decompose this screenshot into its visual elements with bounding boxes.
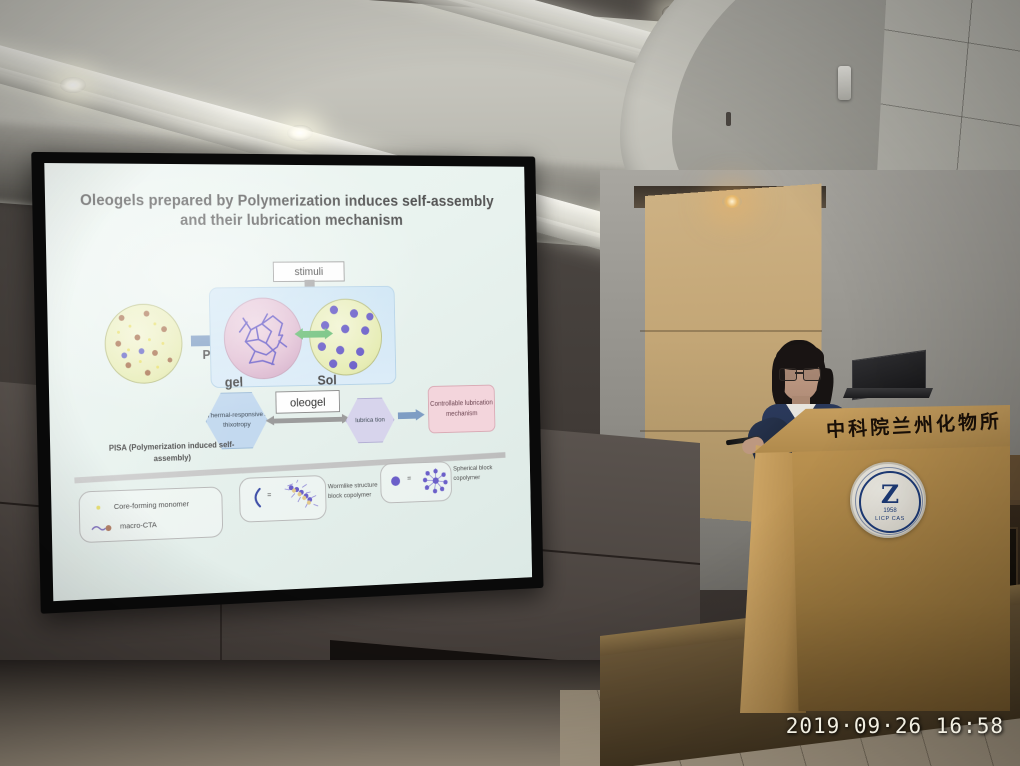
sol-label: Sol (317, 373, 336, 388)
slide-title: Oleogels prepared by Polymerization indu… (70, 191, 502, 232)
legend-box-monomer (79, 486, 224, 543)
outcome-arrow-icon (398, 409, 425, 422)
gel-label: gel (225, 375, 244, 390)
ceiling-spotlight-2 (287, 125, 313, 141)
legend-label-wormlike: Wormlike structure block copolymer (328, 481, 379, 502)
warm-spotlight (722, 195, 742, 208)
emblem-year: 1958 (883, 508, 896, 514)
oleogel-box: oleogel (275, 390, 340, 414)
glasses-icon (779, 368, 819, 379)
wormlike-micelle-icon (282, 479, 323, 513)
photograph: Oleogels prepared by Polymerization indu… (0, 0, 1020, 766)
emblem-mark: Z (881, 482, 899, 507)
presentation-slide: Oleogels prepared by Polymerization indu… (44, 163, 532, 601)
legend-equals-spherical: = (407, 474, 411, 483)
wormlike-bracket-icon (248, 487, 263, 509)
beige-panel-seam-1 (640, 330, 822, 332)
institution-emblem: Z 1958 LICP CAS (850, 462, 926, 538)
spherical-micelle-icon (421, 465, 450, 496)
macro-cta-icon (91, 522, 113, 533)
gel-circle (223, 297, 303, 380)
ceiling-hook-icon (726, 112, 731, 126)
legend-equals-wormlike: = (267, 490, 271, 499)
controllable-lubrication-box: Controllable lubrication mechanism (428, 385, 496, 434)
screen-surface: Oleogels prepared by Polymerization indu… (44, 163, 532, 601)
gel-sol-equilibrium-arrow-icon (294, 328, 333, 341)
legend-label-spherical: Spherical block copolymer (453, 463, 499, 483)
pisa-definition-note: PISA (Polymerization induced self-assemb… (95, 439, 248, 467)
emblem-abbreviation: LICP CAS (875, 516, 905, 522)
oleogel-double-arrow-icon (266, 414, 351, 427)
photo-timestamp: 2019·09·26 16:58 (786, 714, 1004, 738)
lubrication-hexagon: lubrica tion (345, 397, 395, 443)
lectern: 中科院兰州化物所 (748, 405, 1010, 705)
ceiling-spotlight-1 (60, 77, 86, 93)
gel-network-icon (224, 298, 302, 379)
monomer-dispersion-circle (104, 303, 183, 384)
legend-label-macro-cta: macro-CTA (120, 520, 157, 530)
ceiling-sensor-icon (838, 66, 851, 100)
projection-screen: Oleogels prepared by Polymerization indu… (31, 152, 543, 614)
emblem-inner: Z 1958 LICP CAS (859, 471, 921, 533)
conference-room: Oleogels prepared by Polymerization indu… (0, 0, 1020, 766)
gel-sol-container (209, 286, 397, 388)
